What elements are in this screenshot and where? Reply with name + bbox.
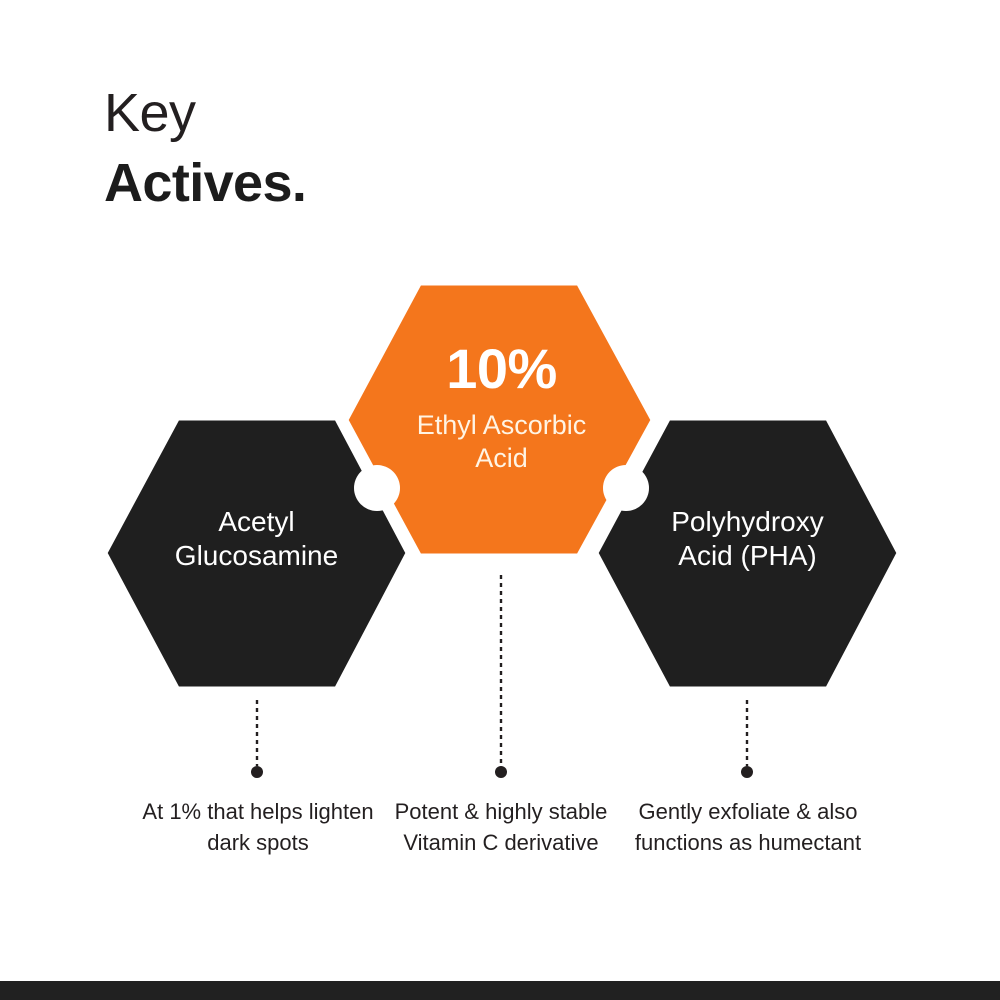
leader-dot-center [495, 766, 507, 778]
page-title-line-1: Key [104, 86, 306, 140]
page-title-line-2: Actives. [104, 156, 306, 210]
hexagon-percent-value: 10% [351, 340, 652, 399]
hexagon-center-name: Ethyl Ascorbic Acid [351, 409, 652, 476]
caption-acetyl-glucosamine: At 1% that helps lighten dark spots [130, 796, 386, 858]
page-title: Key Actives. [104, 86, 306, 210]
hexagon-label-polyhydroxy-acid: Polyhydroxy Acid (PHA) [597, 505, 898, 573]
leader-dot-right [741, 766, 753, 778]
infographic-poster: Key Actives. Acetyl [0, 0, 1000, 1000]
hexagon-label-line-2: Acid [475, 443, 528, 473]
hexagon-label-line-1: Polyhydroxy [597, 505, 898, 539]
caption-polyhydroxy-acid: Gently exfoliate & also functions as hum… [620, 796, 876, 858]
hexagon-label-line-1: Acetyl [106, 505, 407, 539]
hexagon-label-line-1: Ethyl Ascorbic [417, 410, 587, 440]
bottom-bar [0, 981, 1000, 1000]
hexagon-label-line-2: Glucosamine [106, 539, 407, 573]
hexagon-label-ethyl-ascorbic-acid: 10% Ethyl Ascorbic Acid [351, 340, 652, 476]
hexagon-label-acetyl-glucosamine: Acetyl Glucosamine [106, 505, 407, 573]
hexagon-label-line-2: Acid (PHA) [597, 539, 898, 573]
leader-dot-left [251, 766, 263, 778]
caption-ethyl-ascorbic-acid: Potent & highly stable Vitamin C derivat… [376, 796, 626, 858]
